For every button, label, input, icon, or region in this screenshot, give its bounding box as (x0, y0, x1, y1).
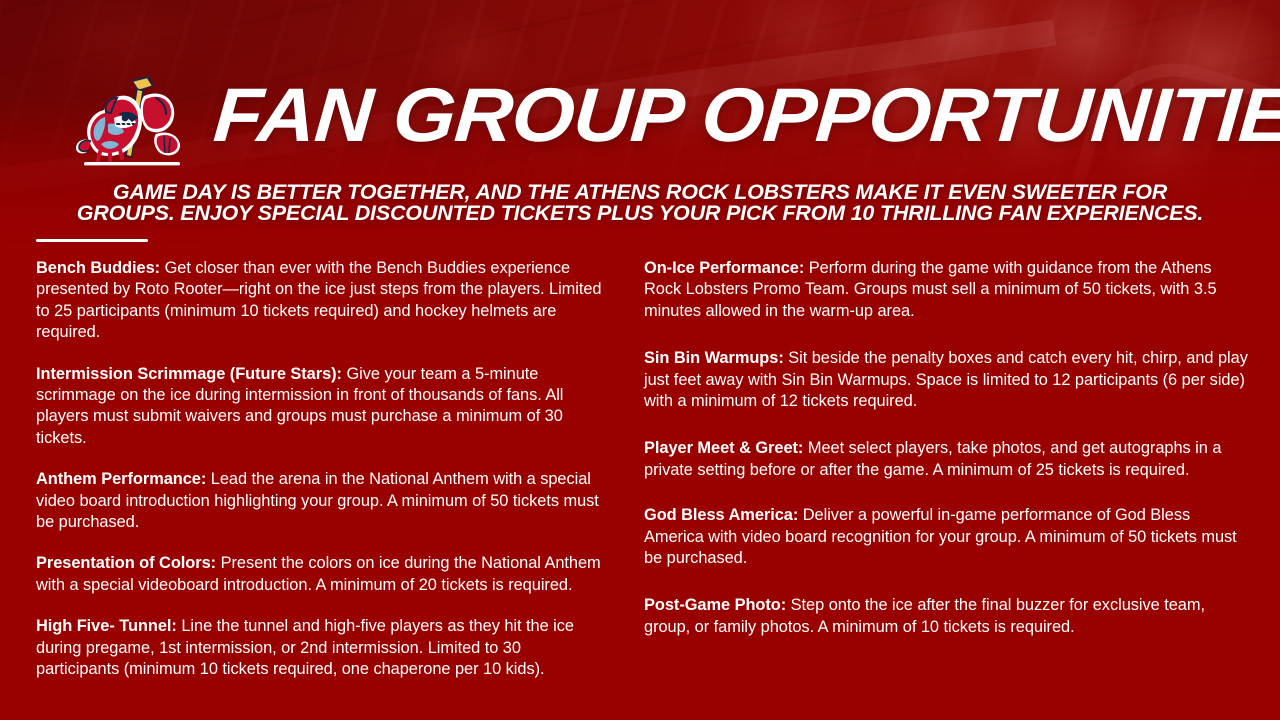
experience-term: Intermission Scrimmage (Future Stars): (36, 365, 342, 383)
experience-item: On-Ice Performance: Perform during the g… (644, 258, 1250, 322)
experience-term: High Five- Tunnel: (36, 617, 177, 635)
experience-item: Sin Bin Warmups: Sit beside the penalty … (644, 348, 1250, 412)
subtitle-line-2: GROUPS. ENJOY SPECIAL DISCOUNTED TICKETS… (0, 203, 1280, 224)
experience-item: Post-Game Photo: Step onto the ice after… (644, 595, 1250, 638)
section-divider (36, 239, 148, 242)
subtitle-line-1: GAME DAY IS BETTER TOGETHER, AND THE ATH… (0, 182, 1280, 203)
experiences-column-right: On-Ice Performance: Perform during the g… (640, 258, 1280, 701)
experience-term: God Bless America: (644, 506, 798, 524)
experience-term: Bench Buddies: (36, 259, 160, 277)
experience-item: Bench Buddies: Get closer than ever with… (36, 258, 606, 344)
experience-term: Anthem Performance: (36, 470, 206, 488)
page-title: FAN GROUP OPPORTUNITIES (211, 76, 1280, 156)
experience-term: Post-Game Photo: (644, 596, 786, 614)
experiences-column-left: Bench Buddies: Get closer than ever with… (0, 258, 640, 701)
experience-term: Presentation of Colors: (36, 554, 216, 572)
experiences-columns: Bench Buddies: Get closer than ever with… (0, 258, 1280, 701)
athens-rock-lobsters-logo (70, 74, 192, 170)
poster-header: FAN GROUP OPPORTUNITIES GAME DAY IS BETT… (0, 0, 1280, 248)
experience-term: Sin Bin Warmups: (644, 349, 784, 367)
experience-item: Player Meet & Greet: Meet select players… (644, 438, 1250, 481)
experience-item: Presentation of Colors: Present the colo… (36, 553, 606, 596)
page-subtitle: GAME DAY IS BETTER TOGETHER, AND THE ATH… (0, 182, 1280, 224)
experience-item: Intermission Scrimmage (Future Stars): G… (36, 364, 606, 450)
experience-item: High Five- Tunnel: Line the tunnel and h… (36, 616, 606, 680)
experience-term: On-Ice Performance: (644, 259, 804, 277)
experience-item: Anthem Performance: Lead the arena in th… (36, 469, 606, 533)
experience-term: Player Meet & Greet: (644, 439, 803, 457)
fan-group-opportunities-poster: FAN GROUP OPPORTUNITIES GAME DAY IS BETT… (0, 0, 1280, 720)
experience-item: God Bless America: Deliver a powerful in… (644, 505, 1250, 569)
